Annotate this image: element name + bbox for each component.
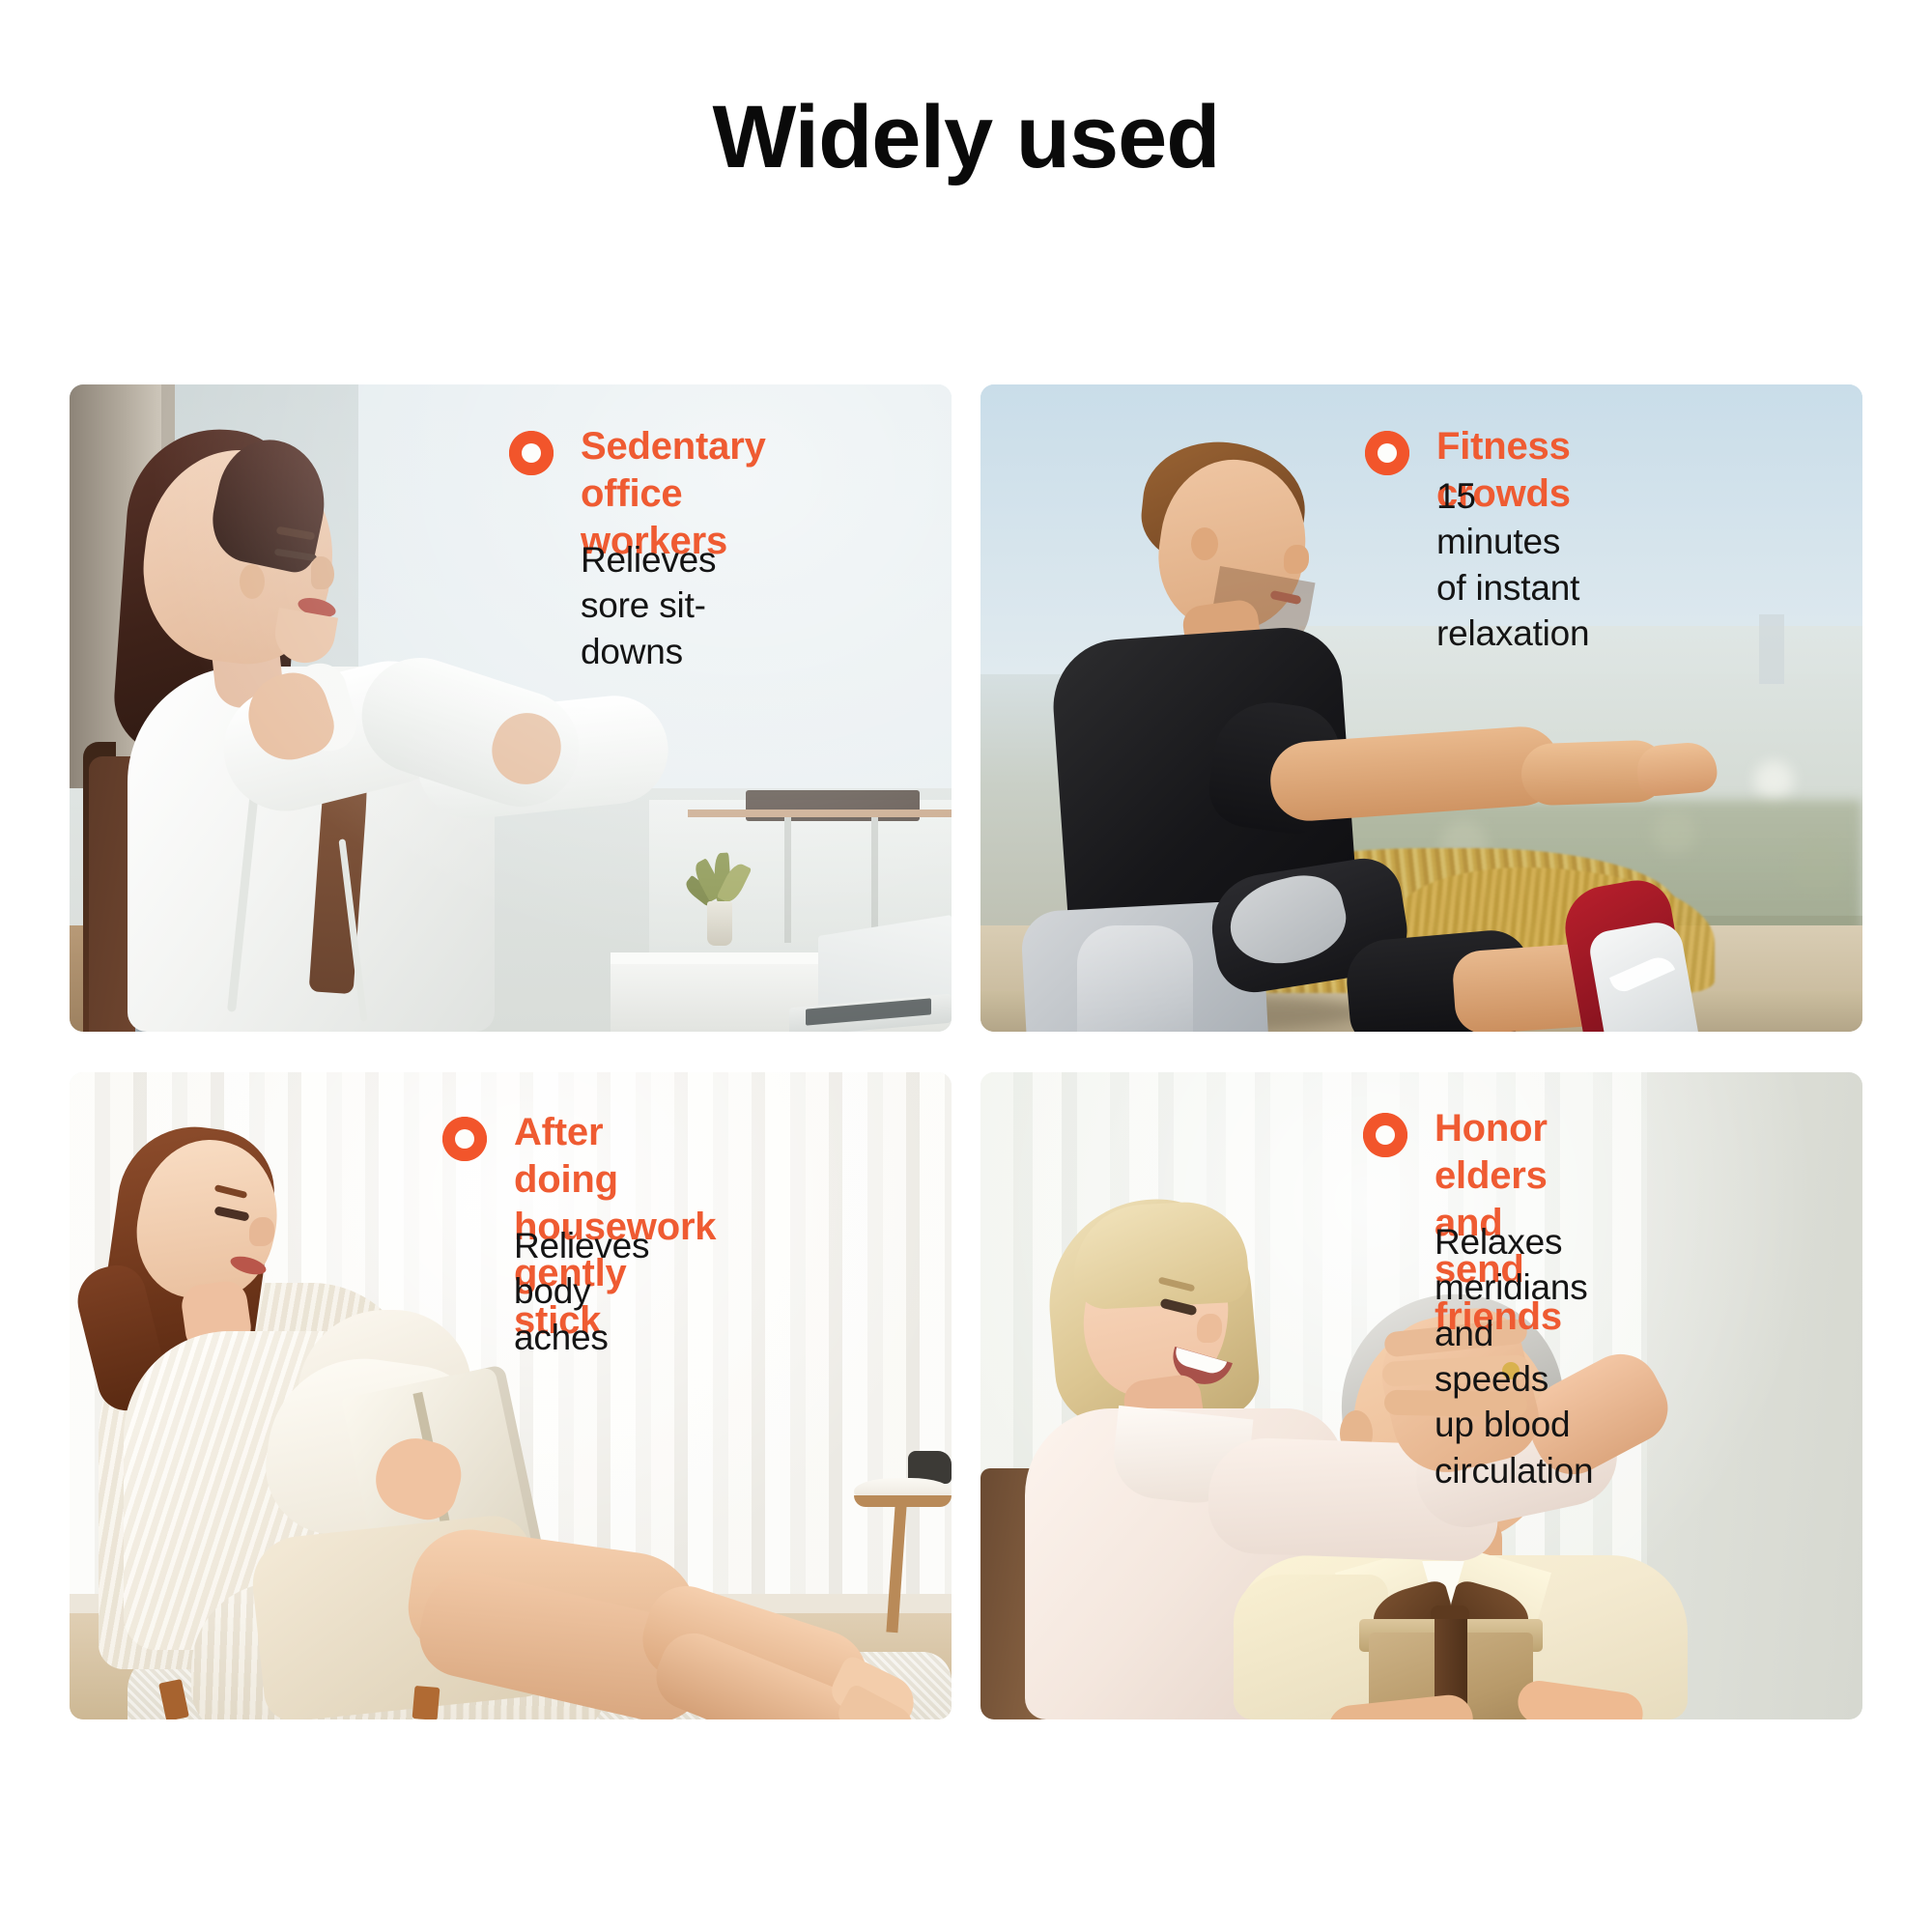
distant-tower bbox=[1759, 614, 1784, 684]
card-sedentary-office-workers[interactable]: Sedentary office workers Relieves sore s… bbox=[70, 384, 952, 1032]
widely-used-promo-page: Widely used bbox=[0, 0, 1932, 1932]
card-honor-elders[interactable]: Honor elders and send friends Relaxes me… bbox=[980, 1072, 1862, 1719]
ring-bullet-icon bbox=[509, 431, 554, 475]
ring-bullet-icon bbox=[442, 1117, 487, 1161]
shorts-highlight bbox=[1077, 925, 1193, 1032]
ring-bullet-icon bbox=[1363, 1113, 1407, 1157]
use-case-card-grid: Sedentary office workers Relieves sore s… bbox=[70, 384, 1864, 1724]
side-table-rim bbox=[854, 1495, 952, 1507]
woman-nose bbox=[1197, 1314, 1222, 1343]
card-subtext: Relieves sore sit-downs bbox=[581, 537, 716, 674]
card-subtext: Relieves body aches bbox=[514, 1223, 649, 1360]
card-subtext: 15 minutes of instant relaxation bbox=[1436, 473, 1589, 656]
armchair-leg-right bbox=[412, 1686, 440, 1719]
photo-honor-elders bbox=[980, 1072, 1862, 1719]
photo-highlight bbox=[70, 384, 952, 1032]
man-hand bbox=[1635, 741, 1719, 798]
man-nose bbox=[1284, 545, 1309, 574]
card-after-housework[interactable]: After doing housework gently stick Relie… bbox=[70, 1072, 952, 1719]
photo-sedentary-office-workers bbox=[70, 384, 952, 1032]
man-ear bbox=[1191, 527, 1218, 560]
ring-bullet-icon bbox=[1365, 431, 1409, 475]
photo-fitness-crowds bbox=[980, 384, 1862, 1032]
photo-after-housework bbox=[70, 1072, 952, 1719]
card-subtext: Relaxes meridians and speeds up blood ci… bbox=[1435, 1219, 1593, 1493]
page-title: Widely used bbox=[0, 93, 1932, 184]
card-fitness-crowds[interactable]: Fitness crowds 15 minutes of instant rel… bbox=[980, 384, 1862, 1032]
woman-nose bbox=[249, 1217, 274, 1246]
